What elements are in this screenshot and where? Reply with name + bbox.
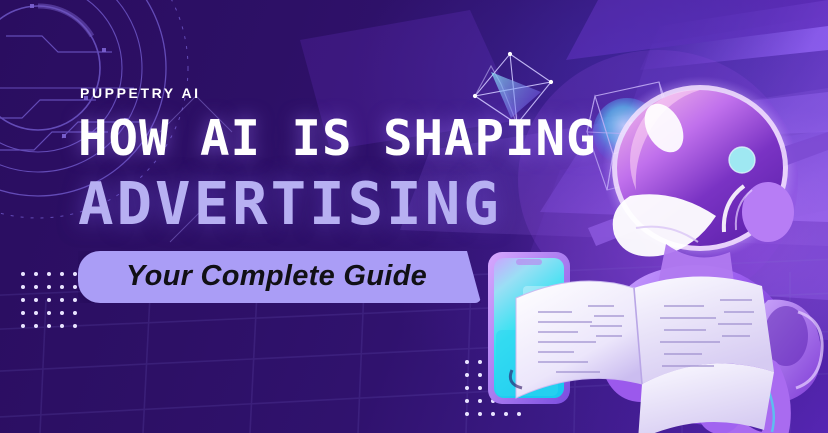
dot-matrix-icon <box>21 272 77 328</box>
hero-banner: PUPPETRY AI HOW AI IS SHAPING ADVERTISIN… <box>0 0 828 433</box>
headline-line-2: ADVERTISING <box>78 174 678 233</box>
headline-block: PUPPETRY AI HOW AI IS SHAPING ADVERTISIN… <box>78 86 678 303</box>
subtitle-pill: Your Complete Guide <box>78 251 481 303</box>
subtitle-text: Your Complete Guide <box>126 262 427 291</box>
headline-line-1: HOW AI IS SHAPING <box>78 114 678 163</box>
brand-kicker: PUPPETRY AI <box>80 86 678 100</box>
